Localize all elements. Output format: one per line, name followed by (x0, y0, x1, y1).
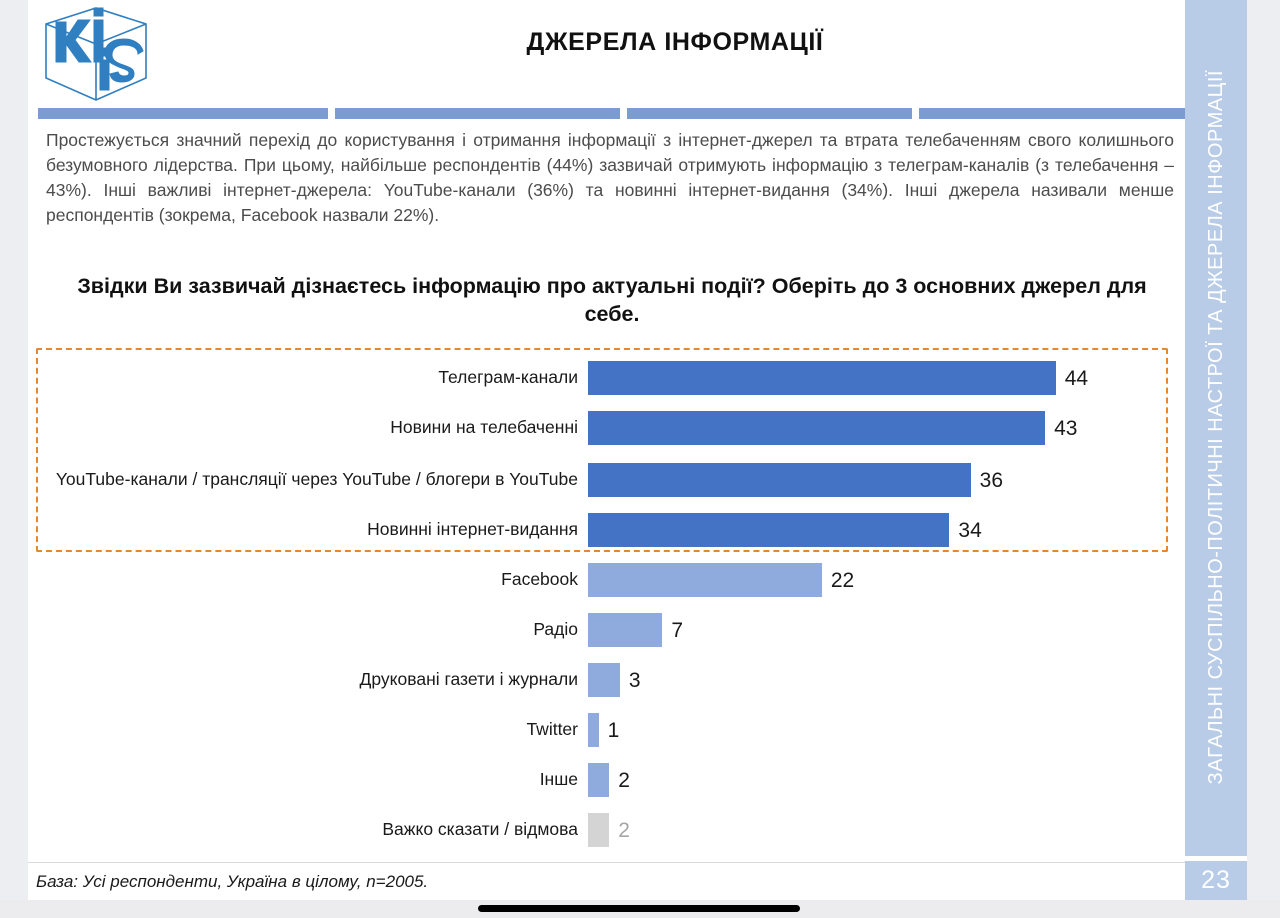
chart-bar-area: 2 (588, 760, 1171, 800)
question-heading: Звідки Ви зазвичай дізнаєтесь інформацію… (64, 272, 1160, 329)
home-indicator[interactable] (478, 905, 800, 912)
chart-category-label: YouTube-канали / трансляції через YouTub… (36, 469, 588, 491)
chart-bar-value: 43 (1054, 418, 1077, 439)
chart-bar-area: 3 (588, 660, 1171, 700)
chart-row: Новини на телебаченні43 (36, 408, 1171, 448)
chart-category-label: Facebook (36, 569, 588, 591)
bar-chart: Телеграм-канали44Новини на телебаченні43… (36, 348, 1171, 858)
decorative-bar-strip (38, 108, 1188, 119)
chart-category-label: Новинні інтернет-видання (36, 519, 588, 541)
decorative-bar-segment (919, 108, 1188, 119)
chart-category-label: Телеграм-канали (36, 367, 588, 389)
left-gutter (0, 0, 28, 918)
sidebar-label-wrap: ЗАГАЛЬНІ СУСПІЛЬНО-ПОЛІТИЧНІ НАСТРОЇ ТА … (1185, 0, 1247, 855)
chart-bar-value: 36 (980, 470, 1003, 491)
right-rail (1247, 0, 1280, 918)
chart-bar-value: 2 (618, 770, 630, 791)
chart-row: Радіо7 (36, 610, 1171, 650)
page-title: ДЖЕРЕЛА ІНФОРМАЦІЇ (200, 28, 1150, 57)
chart-bar-value: 2 (618, 820, 630, 841)
page-number: 23 (1185, 861, 1247, 900)
chart-row: Важко сказати / відмова2 (36, 810, 1171, 850)
chart-category-label: Інше (36, 769, 588, 791)
chart-bar (588, 663, 620, 697)
chart-bar-value: 44 (1065, 368, 1088, 389)
chart-bar (588, 613, 662, 647)
chart-bar-area: 44 (588, 358, 1171, 398)
chart-category-label: Новини на телебаченні (36, 417, 588, 439)
chart-row: Інше2 (36, 760, 1171, 800)
chart-bar (588, 713, 599, 747)
chart-bar-value: 1 (608, 720, 620, 741)
kiis-logo (42, 6, 150, 102)
chart-bar-value: 7 (671, 620, 683, 641)
chart-bar-area: 43 (588, 408, 1171, 448)
chart-row: Twitter1 (36, 710, 1171, 750)
chart-bar-area: 1 (588, 710, 1171, 750)
decorative-bar-segment (38, 108, 328, 119)
sidebar-section-label: ЗАГАЛЬНІ СУСПІЛЬНО-ПОЛІТИЧНІ НАСТРОЇ ТА … (1202, 70, 1231, 784)
chart-bar (588, 361, 1056, 395)
chart-row: YouTube-канали / трансляції через YouTub… (36, 452, 1171, 508)
base-note: База: Усі респонденти, Україна в цілому,… (36, 872, 428, 892)
chart-row: Новинні інтернет-видання34 (36, 510, 1171, 550)
chart-category-label: Друковані газети і журнали (36, 669, 588, 691)
chart-bar (588, 763, 609, 797)
footer-divider (28, 862, 1185, 863)
decorative-bar-segment (335, 108, 620, 119)
chart-bar-area: 2 (588, 810, 1171, 850)
chart-bar-value: 22 (831, 570, 854, 591)
decorative-bar-segment (627, 108, 912, 119)
chart-bar-area: 34 (588, 510, 1171, 550)
chart-bar (588, 813, 609, 847)
chart-bar (588, 563, 822, 597)
chart-bar (588, 411, 1045, 445)
chart-category-label: Twitter (36, 719, 588, 741)
chart-category-label: Радіо (36, 619, 588, 641)
chart-bar (588, 463, 971, 497)
chart-category-label: Важко сказати / відмова (36, 819, 588, 841)
chart-bar-value: 34 (958, 520, 981, 541)
chart-row: Facebook22 (36, 560, 1171, 600)
chart-bar (588, 513, 949, 547)
intro-paragraph: Простежується значний перехід до користу… (46, 128, 1174, 227)
chart-row: Телеграм-канали44 (36, 358, 1171, 398)
chart-bar-area: 22 (588, 560, 1171, 600)
chart-bar-area: 36 (588, 452, 1171, 508)
chart-bar-value: 3 (629, 670, 641, 691)
chart-bar-area: 7 (588, 610, 1171, 650)
slide-root: ДЖЕРЕЛА ІНФОРМАЦІЇ Простежується значний… (0, 0, 1280, 918)
chart-row: Друковані газети і журнали3 (36, 660, 1171, 700)
section-sidebar: ЗАГАЛЬНІ СУСПІЛЬНО-ПОЛІТИЧНІ НАСТРОЇ ТА … (1185, 0, 1247, 900)
